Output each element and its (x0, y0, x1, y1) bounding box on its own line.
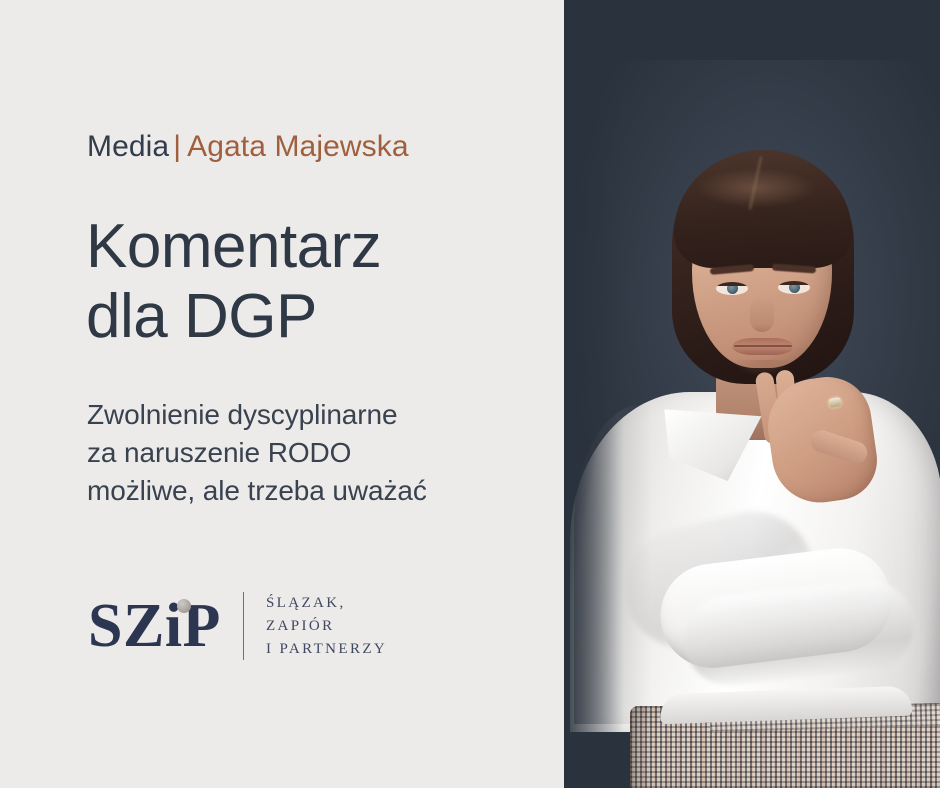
subtitle-line-3: możliwe, ale trzeba uważać (87, 472, 517, 510)
portrait-eye-left (716, 282, 748, 295)
eyebrow-separator: | (169, 130, 187, 163)
headline-line-1: Komentarz (86, 212, 526, 282)
portrait-panel (564, 0, 940, 788)
logo-firm-name-line-1: Ślązak, (266, 592, 387, 615)
text-panel: Media|Agata Majewska Komentarz dla DGP Z… (0, 0, 564, 788)
media-quote-card: Media|Agata Majewska Komentarz dla DGP Z… (0, 0, 940, 788)
logo-firm-name-line-3: i Partnerzy (266, 638, 387, 661)
portrait-eye-right (778, 281, 810, 294)
logo-wordmark: SZiP (88, 595, 225, 657)
logo-wordmark-text: SZiP (88, 592, 221, 660)
logo-divider (243, 592, 244, 660)
portrait-eyelid-left (716, 282, 748, 286)
subtitle-line-2: za naruszenie RODO (87, 434, 517, 472)
logo-firm-name: Ślązak, Zapiór i Partnerzy (266, 592, 387, 661)
eyebrow: Media|Agata Majewska (87, 128, 409, 166)
eyebrow-category: Media (87, 130, 169, 163)
page-title: Komentarz dla DGP (86, 212, 526, 352)
subtitle-line-1: Zwolnienie dyscyplinarne (87, 396, 517, 434)
logo-firm-name-line-2: Zapiór (266, 615, 387, 638)
portrait-lip-line (734, 345, 792, 347)
portrait-nose (750, 296, 774, 332)
logo-dot-icon (177, 599, 191, 613)
portrait-image (564, 0, 940, 788)
szip-logo: SZiP Ślązak, Zapiór i Partnerzy (88, 586, 387, 666)
portrait-eyelid-right (778, 281, 810, 285)
subtitle: Zwolnienie dyscyplinarne za naruszenie R… (87, 396, 517, 510)
eyebrow-author: Agata Majewska (187, 130, 409, 163)
headline-line-2: dla DGP (86, 282, 526, 352)
portrait-hair-sheen (696, 168, 816, 208)
